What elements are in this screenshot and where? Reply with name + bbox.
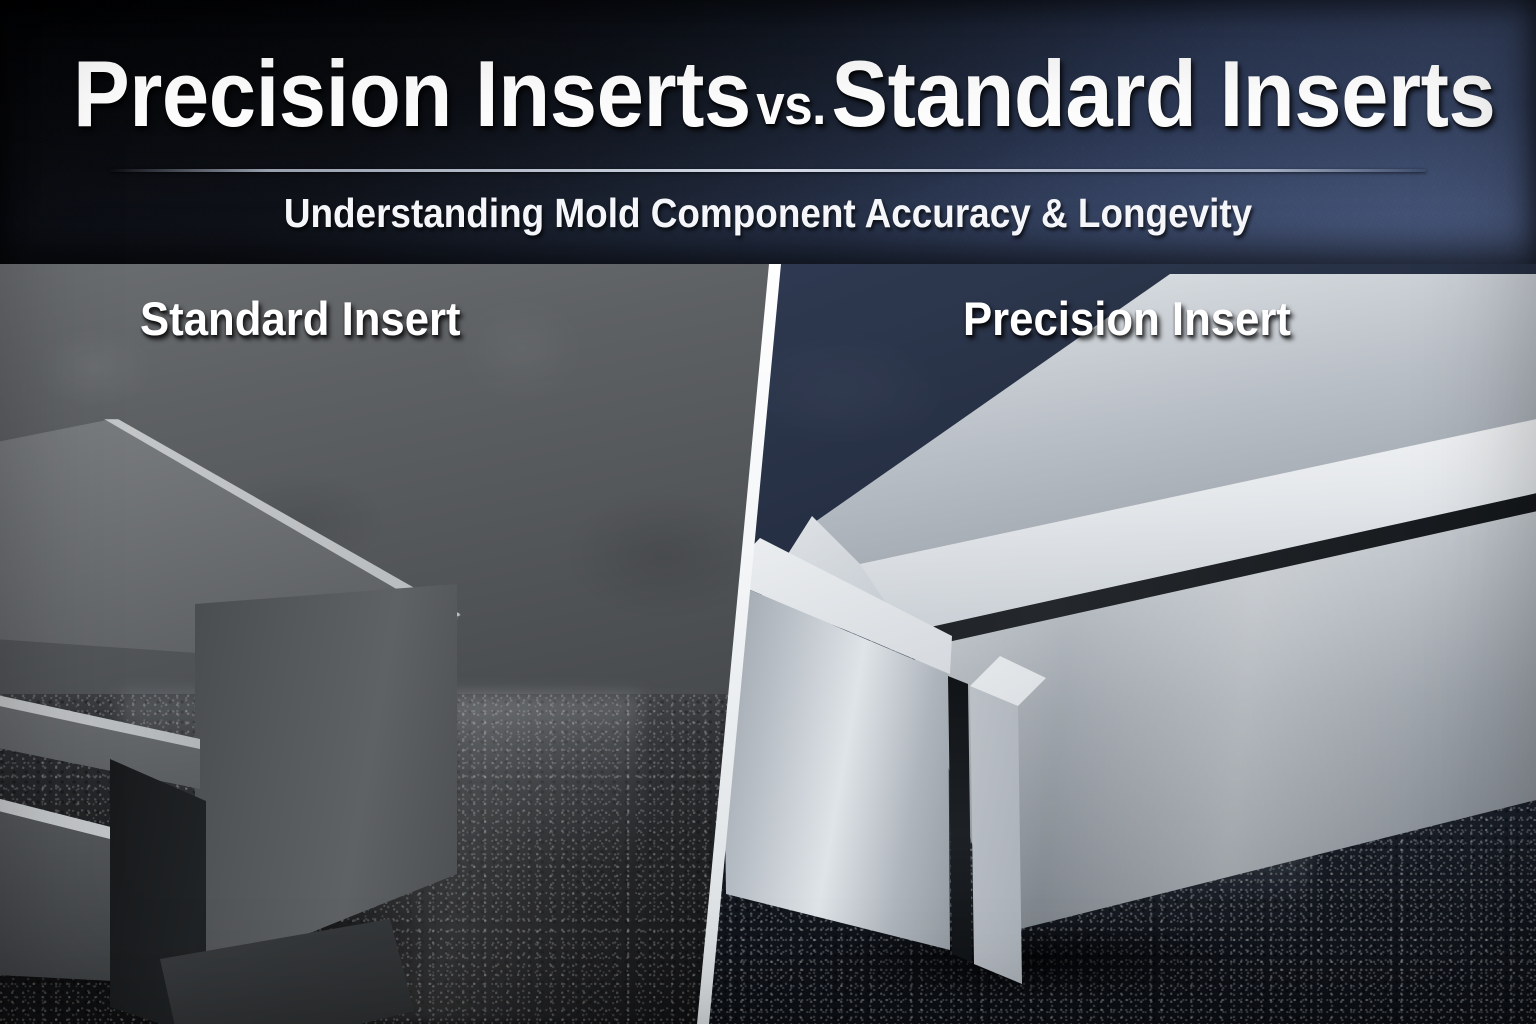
- infographic-canvas: Precision Insertsvs.Standard Inserts Und…: [0, 0, 1536, 1024]
- standard-insert-caption: Standard Insert: [140, 295, 461, 342]
- comparison-photo-area: [0, 264, 1536, 1024]
- title-part-standard: Standard Inserts: [831, 41, 1495, 146]
- page-subtitle: Understanding Mold Component Accuracy & …: [77, 193, 1459, 234]
- header-divider-rule: [110, 169, 1426, 172]
- title-part-precision: Precision Inserts: [73, 41, 751, 146]
- precision-insert-caption: Precision Insert: [963, 295, 1291, 342]
- standard-insert-panel: [0, 264, 790, 1024]
- page-title: Precision Insertsvs.Standard Inserts: [73, 47, 1463, 141]
- header-banner: Precision Insertsvs.Standard Inserts Und…: [0, 0, 1536, 264]
- precision-insert-bar: [700, 264, 1536, 1024]
- title-versus: vs.: [751, 73, 831, 136]
- standard-insert-block: [0, 359, 690, 979]
